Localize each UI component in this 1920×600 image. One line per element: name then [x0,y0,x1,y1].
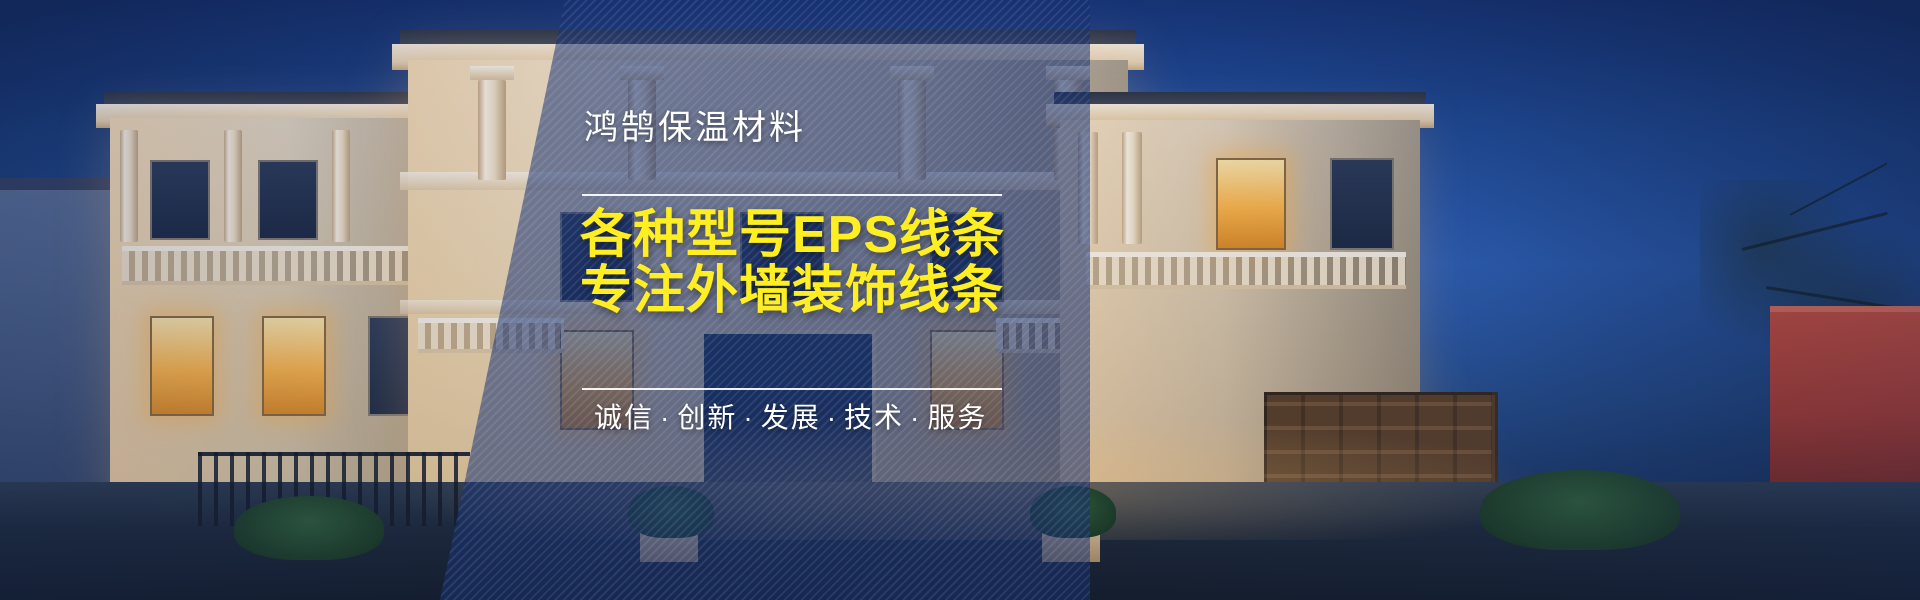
tagline-separator-icon: · [654,402,677,433]
headline-line-1: 各种型号EPS线条 [580,206,1005,264]
tagline-item: 诚信 [594,402,654,433]
tagline-item: 技术 [844,402,904,433]
tagline-separator-icon: · [821,402,844,433]
tagline-separator-icon: · [737,402,760,433]
window [150,160,210,240]
pilaster [332,130,350,242]
balustrade [418,318,564,353]
hero-banner: 鸿鹄保温材料 各种型号EPS线条 专注外墙装饰线条 诚信·创新·发展·技术·服务 [0,0,1920,600]
divider-top [582,194,1002,196]
column [478,80,506,180]
window [258,160,318,240]
shrub [1480,470,1680,550]
shrub [234,496,384,560]
window-lit [262,316,326,416]
tagline: 诚信·创新·发展·技术·服务 [594,396,987,436]
balustrade [1086,252,1406,289]
pilaster [224,130,242,242]
banner-copy: 鸿鹄保温材料 各种型号EPS线条 专注外墙装饰线条 诚信·创新·发展·技术·服务 [562,0,1102,600]
balustrade [122,246,422,285]
window [1330,158,1394,250]
red-container [1770,312,1920,484]
tagline-separator-icon: · [904,402,927,433]
window-lit [1216,158,1286,250]
tagline-item: 创新 [677,402,737,433]
column-capital [470,66,514,80]
headline-line-2: 专注外墙装饰线条 [580,262,1004,320]
tagline-item: 发展 [761,402,821,433]
far-left-building [0,190,118,490]
tagline-item: 服务 [927,402,987,433]
brand-name: 鸿鹄保温材料 [584,108,806,149]
window-lit [150,316,214,416]
pilaster [1122,132,1142,244]
pilaster [120,130,138,242]
divider-bottom [582,388,1002,390]
